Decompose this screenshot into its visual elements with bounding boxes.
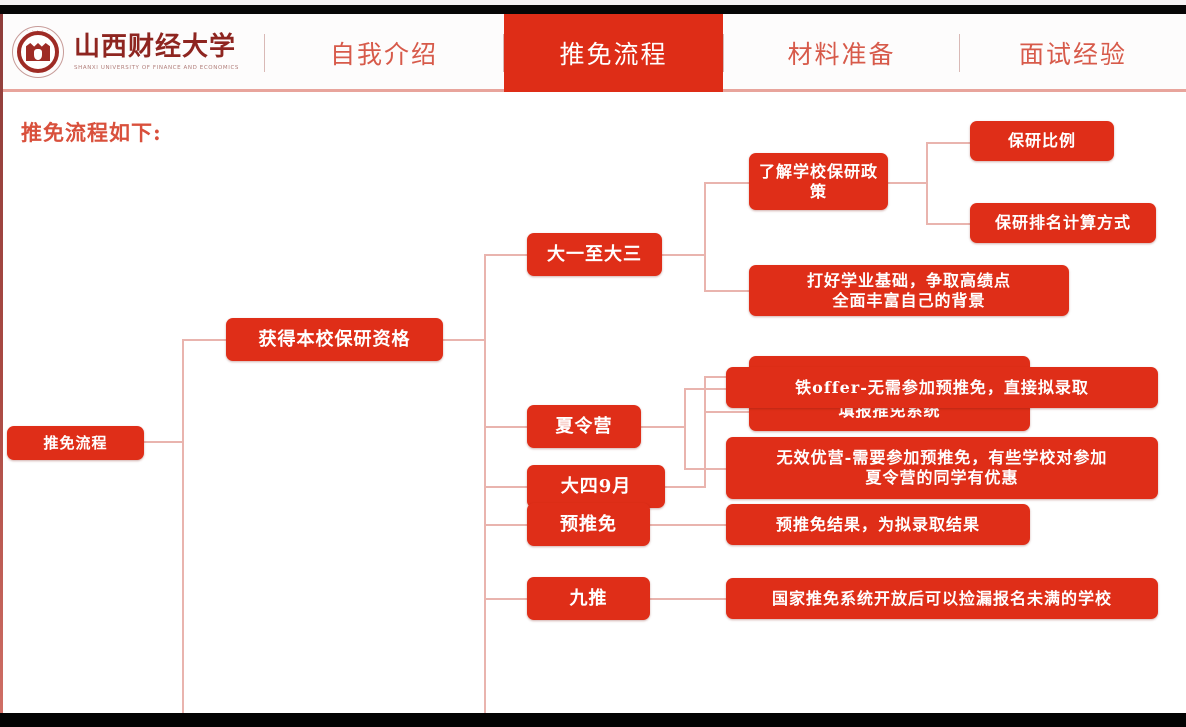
node-label: 国家推免系统开放后可以捡漏报名未满的学校 xyxy=(772,589,1112,609)
node-label: 保研比例 xyxy=(1008,131,1076,151)
connector xyxy=(484,254,527,256)
connector xyxy=(888,182,927,184)
connector xyxy=(926,142,928,225)
connector xyxy=(704,411,749,413)
connector xyxy=(926,223,970,225)
flowchart-canvas: 推免流程 获得本校保研资格 获得目标院校offer 大一至大三 大四9月 了解学… xyxy=(0,92,1186,713)
logo-name-en: SHANXI UNIVERSITY OF FINANCE AND ECONOMI… xyxy=(74,65,239,71)
connector xyxy=(704,182,749,184)
slide-header: · · · · · 山西财经大学 SHANXI UNIVERSITY OF FI… xyxy=(3,14,1186,92)
connector xyxy=(665,486,705,488)
node-label: 大四9月 xyxy=(561,476,632,498)
node-label: 九推 xyxy=(570,588,608,610)
connector xyxy=(443,339,485,341)
node-iron-offer[interactable]: 铁offer-无需参加预推免，直接拟录取 xyxy=(726,367,1158,408)
node-root[interactable]: 推免流程 xyxy=(7,426,144,460)
connector xyxy=(484,524,527,526)
slide-stage: · · · · · 山西财经大学 SHANXI UNIVERSITY OF FI… xyxy=(0,0,1186,727)
node-label: 预推免结果，为拟录取结果 xyxy=(776,515,980,535)
connector xyxy=(926,142,970,144)
tab-self-introduction[interactable]: 自我介绍 xyxy=(265,14,503,92)
node-build-academic-foundation[interactable]: 打好学业基础，争取高绩点全面丰富自己的背景 xyxy=(749,265,1069,316)
connector xyxy=(641,426,685,428)
node-summer-camp[interactable]: 夏令营 xyxy=(527,405,641,448)
connector xyxy=(144,441,183,443)
university-seal-icon: · · · · · xyxy=(11,25,65,79)
connector xyxy=(182,339,184,713)
tab-label: 材料准备 xyxy=(787,35,895,71)
node-label: 夏令营 xyxy=(556,416,613,438)
node-national-system-open[interactable]: 国家推免系统开放后可以捡漏报名未满的学校 xyxy=(726,578,1158,619)
connector xyxy=(484,426,527,428)
tab-label: 推免流程 xyxy=(559,35,667,71)
connector xyxy=(684,388,686,470)
connector xyxy=(704,376,706,488)
seal-crest-icon xyxy=(26,40,50,64)
node-label: 打好学业基础，争取高绩点全面丰富自己的背景 xyxy=(807,271,1011,310)
node-year4-september[interactable]: 大四9月 xyxy=(527,465,665,508)
node-label: 铁offer-无需参加预推免，直接拟录取 xyxy=(795,378,1089,398)
node-recommendation-ratio[interactable]: 保研比例 xyxy=(970,121,1114,161)
tab-label: 自我介绍 xyxy=(330,35,438,71)
letterbox-bottom-bar xyxy=(0,713,1186,727)
connector xyxy=(484,426,486,713)
node-get-home-school-qualification[interactable]: 获得本校保研资格 xyxy=(226,318,443,361)
node-understand-school-policy[interactable]: 了解学校保研政策 xyxy=(749,153,888,210)
connector xyxy=(684,388,726,390)
node-ranking-calculation-method[interactable]: 保研排名计算方式 xyxy=(970,203,1156,243)
node-label: 大一至大三 xyxy=(547,244,642,266)
tab-recommendation-process[interactable]: 推免流程 xyxy=(504,14,723,92)
node-year1-to-year3[interactable]: 大一至大三 xyxy=(527,233,662,276)
node-pre-recommendation[interactable]: 预推免 xyxy=(527,503,650,546)
connector xyxy=(662,254,705,256)
slide-content: · · · · · 山西财经大学 SHANXI UNIVERSITY OF FI… xyxy=(0,14,1186,713)
connector xyxy=(484,486,527,488)
node-label: 保研排名计算方式 xyxy=(995,213,1131,233)
crest-center-shape xyxy=(34,49,42,60)
node-label: 了解学校保研政策 xyxy=(755,162,882,201)
node-invalid-excellent-camp[interactable]: 无效优营-需要参加预推免，有些学校对参加夏令营的同学有优惠 xyxy=(726,437,1158,499)
node-pre-recommendation-result[interactable]: 预推免结果，为拟录取结果 xyxy=(726,504,1030,545)
logo-text-block: 山西财经大学 SHANXI UNIVERSITY OF FINANCE AND … xyxy=(74,33,239,71)
connector xyxy=(650,598,726,600)
connector xyxy=(704,182,706,292)
connector xyxy=(650,524,726,526)
tab-material-preparation[interactable]: 材料准备 xyxy=(724,14,959,92)
node-label: 推免流程 xyxy=(43,434,107,452)
node-label: 预推免 xyxy=(560,514,617,536)
connector xyxy=(484,598,527,600)
node-label: 无效优营-需要参加预推免，有些学校对参加夏令营的同学有优惠 xyxy=(777,448,1108,487)
university-logo: · · · · · 山西财经大学 SHANXI UNIVERSITY OF FI… xyxy=(11,22,259,82)
node-september-push[interactable]: 九推 xyxy=(527,577,650,620)
letterbox-top-bar xyxy=(0,5,1186,14)
connector xyxy=(182,339,226,341)
tab-interview-experience[interactable]: 面试经验 xyxy=(960,14,1186,92)
connector xyxy=(684,468,726,470)
logo-name-cn: 山西财经大学 xyxy=(74,33,239,62)
tab-label: 面试经验 xyxy=(1019,35,1127,71)
connector xyxy=(704,290,749,292)
node-label: 获得本校保研资格 xyxy=(259,329,411,351)
